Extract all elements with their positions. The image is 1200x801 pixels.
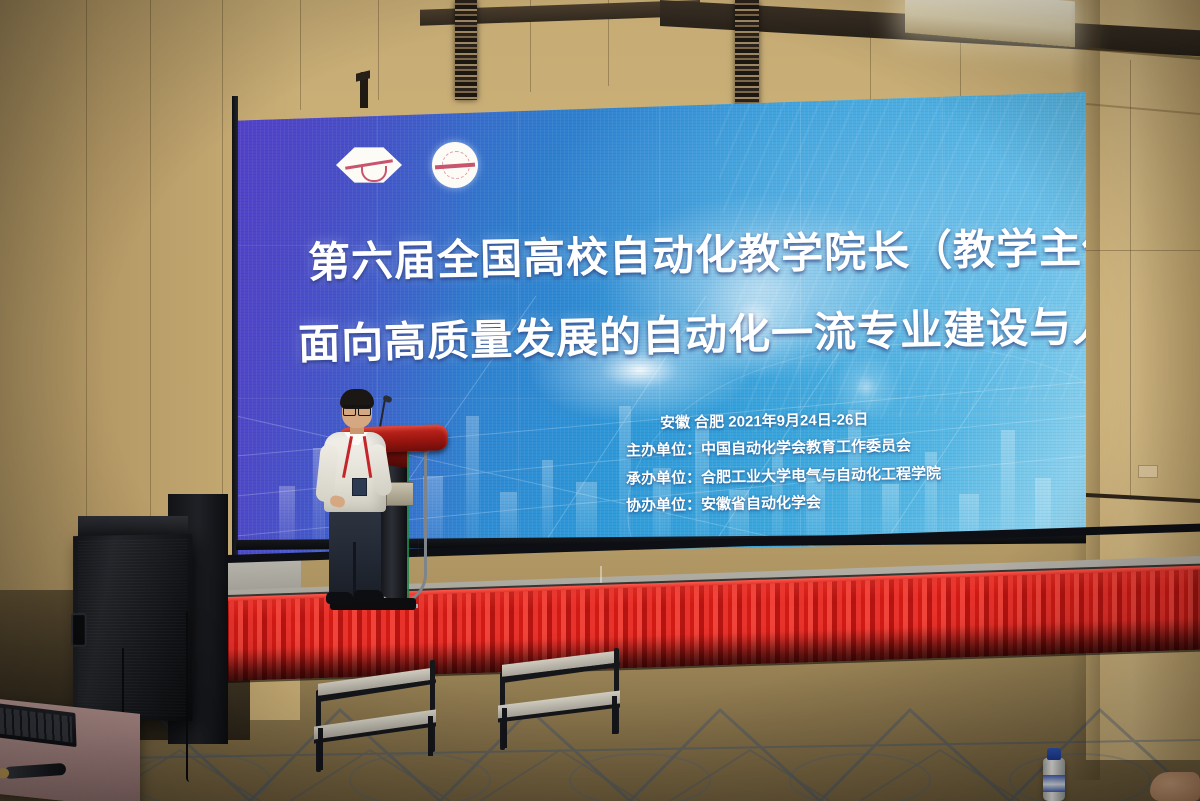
organizer-undertaker: 承办单位：合肥工业大学电气与自动化工程学院 [626,462,941,488]
stair-leg [502,708,507,748]
conference-title-line-1: 第六届全国高校自动化教学院长（教学主任）会议 [308,211,1086,290]
wall-seam [378,0,379,100]
conference-title-line-2: 面向高质量发展的自动化一流专业建设与人才培养 [297,289,1086,371]
water-bottle-label [1043,775,1065,792]
laptop-keys [0,707,72,742]
conference-date-location: 安徽 合肥 2021年9月24日-26日 [660,408,869,433]
wall-outlet [1138,465,1158,478]
stair-leg [318,728,323,770]
stair-leg [612,696,617,734]
speaker-badge [352,478,367,496]
wall-seam [1086,250,1200,251]
speaker-grille [78,539,187,716]
wall-seam [222,0,223,540]
speaker-shoe [354,590,384,602]
organizer-coorganizer: 协办单位：安徽省自动化学会 [626,491,821,515]
speaker-person [316,392,392,614]
screen-bezel-left [232,96,238,556]
wall-seam [150,0,151,600]
wall-seam [300,0,301,110]
stair-leg [428,716,433,756]
wall-seam [1130,60,1131,500]
foreground-hand [1150,772,1200,801]
decorative-column [455,0,477,100]
podium-curved-frame [396,452,427,605]
wall-bracket [360,72,368,108]
water-bottle-cap-icon [1047,748,1061,760]
speaker-shoe [326,592,354,604]
conference-stage-photo: 第六届全国高校自动化教学院长（教学主任）会议 面向高质量发展的自动化一流专业建设… [0,0,1200,801]
glasses-icon [343,405,371,415]
podium-cable [404,452,409,602]
speaker-handle [71,613,87,647]
wall-seam [86,0,87,600]
av-cable [186,612,190,782]
pa-speaker-cabinet [73,534,192,721]
organizer-host: 主办单位：中国自动化学会教育工作委员会 [626,435,911,461]
